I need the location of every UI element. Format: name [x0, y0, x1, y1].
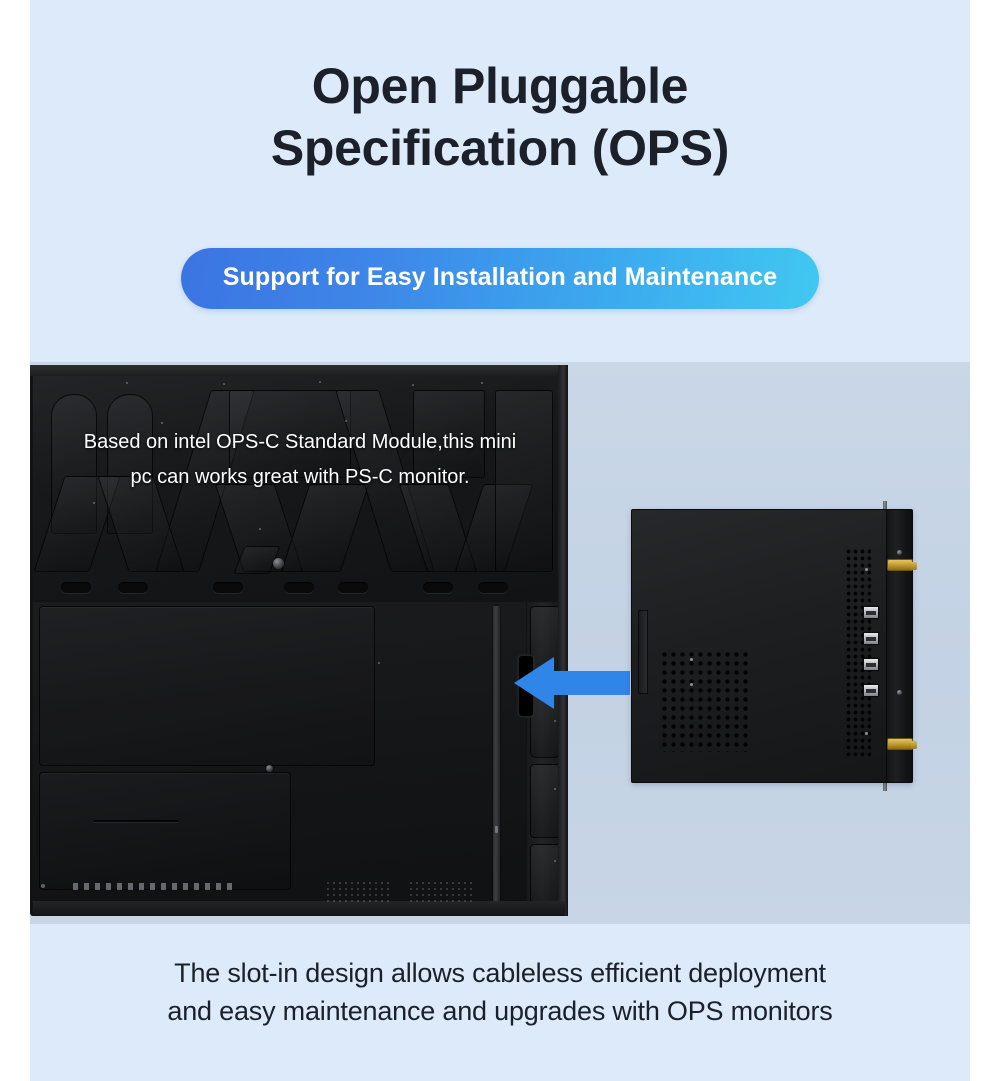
- support-badge[interactable]: Support for Easy Installation and Mainte…: [181, 248, 820, 309]
- monitor-vent-slot: [213, 582, 243, 593]
- surface-speck: [554, 788, 556, 790]
- surface-speck: [161, 422, 163, 424]
- monitor-access-panel: [39, 606, 375, 766]
- surface-speck: [412, 384, 414, 386]
- surface-speck: [378, 662, 380, 664]
- monitor-bottom-edge: [33, 901, 565, 916]
- ops-faceplate-screw: [897, 690, 902, 695]
- feature-description-line-2: and easy maintenance and upgrades with O…: [30, 992, 970, 1030]
- ops-vent-column: [845, 548, 871, 756]
- ops-surface-dot: [690, 658, 693, 661]
- surface-speck: [223, 383, 225, 385]
- slot-emboss: [530, 844, 560, 908]
- ops-left-tab: [638, 610, 648, 694]
- ops-module: [617, 501, 927, 791]
- monitor-vent-slot: [338, 582, 368, 593]
- slot-emboss: [530, 764, 560, 838]
- overlay-caption-line-1: Based on intel OPS-C Standard Module,thi…: [30, 425, 570, 460]
- monitor-vent-slot: [423, 582, 453, 593]
- page-title-line-1: Open Pluggable: [30, 55, 970, 117]
- insertion-direction-arrow: [512, 649, 632, 717]
- emboss-line: [93, 820, 179, 822]
- monitor-screw: [273, 558, 284, 569]
- ops-antenna-connector: [887, 559, 913, 571]
- ops-io-port: [863, 684, 879, 697]
- monitor-vent-slot: [118, 582, 148, 593]
- ops-faceplate-screw: [897, 550, 902, 555]
- monitor-speaker-grille: [325, 880, 393, 902]
- feature-description: The slot-in design allows cableless effi…: [30, 954, 970, 1031]
- surface-speck: [41, 884, 45, 888]
- emboss-shape: [281, 484, 370, 572]
- ops-surface-dot: [690, 683, 693, 686]
- page-title: Open Pluggable Specification (OPS): [30, 55, 970, 179]
- overlay-caption-line-2: pc can works great with PS-C monitor.: [30, 460, 570, 495]
- ops-io-port: [863, 632, 879, 645]
- surface-speck: [345, 420, 347, 422]
- monitor-io-label-strip: [73, 883, 233, 890]
- ops-io-port: [863, 606, 879, 619]
- monitor-lower-back-section: [33, 602, 526, 913]
- monitor-vent-slot: [284, 582, 314, 593]
- monitor-vertical-rail: [493, 606, 500, 902]
- monitor-screw: [266, 765, 273, 772]
- surface-speck: [93, 502, 95, 504]
- product-photo: Based on intel OPS-C Standard Module,thi…: [30, 362, 970, 924]
- surface-speck: [554, 860, 556, 862]
- monitor-speaker-grille: [408, 880, 476, 902]
- ops-indicator-dot: [865, 732, 868, 735]
- surface-speck: [495, 826, 498, 833]
- monitor-vent-slot: [61, 582, 91, 593]
- ops-vent-grid: [660, 650, 752, 752]
- ops-antenna-connector: [887, 738, 913, 750]
- monitor-top-bezel: [30, 365, 568, 376]
- feature-description-line-1: The slot-in design allows cableless effi…: [30, 954, 970, 992]
- ops-module-body: [631, 509, 913, 783]
- monitor-access-panel: [39, 772, 291, 890]
- photo-overlay-caption: Based on intel OPS-C Standard Module,thi…: [30, 425, 570, 495]
- surface-speck: [126, 382, 128, 384]
- surface-speck: [259, 528, 261, 530]
- badge-container: Support for Easy Installation and Mainte…: [30, 248, 970, 309]
- surface-speck: [319, 381, 321, 383]
- surface-speck: [554, 720, 556, 722]
- monitor-vent-slot: [478, 582, 508, 593]
- ops-io-port: [863, 658, 879, 671]
- ops-indicator-dot: [865, 568, 868, 571]
- product-feature-panel: Open Pluggable Specification (OPS) Suppo…: [0, 0, 1000, 1081]
- surface-speck: [481, 382, 483, 384]
- page-title-line-2: Specification (OPS): [30, 117, 970, 179]
